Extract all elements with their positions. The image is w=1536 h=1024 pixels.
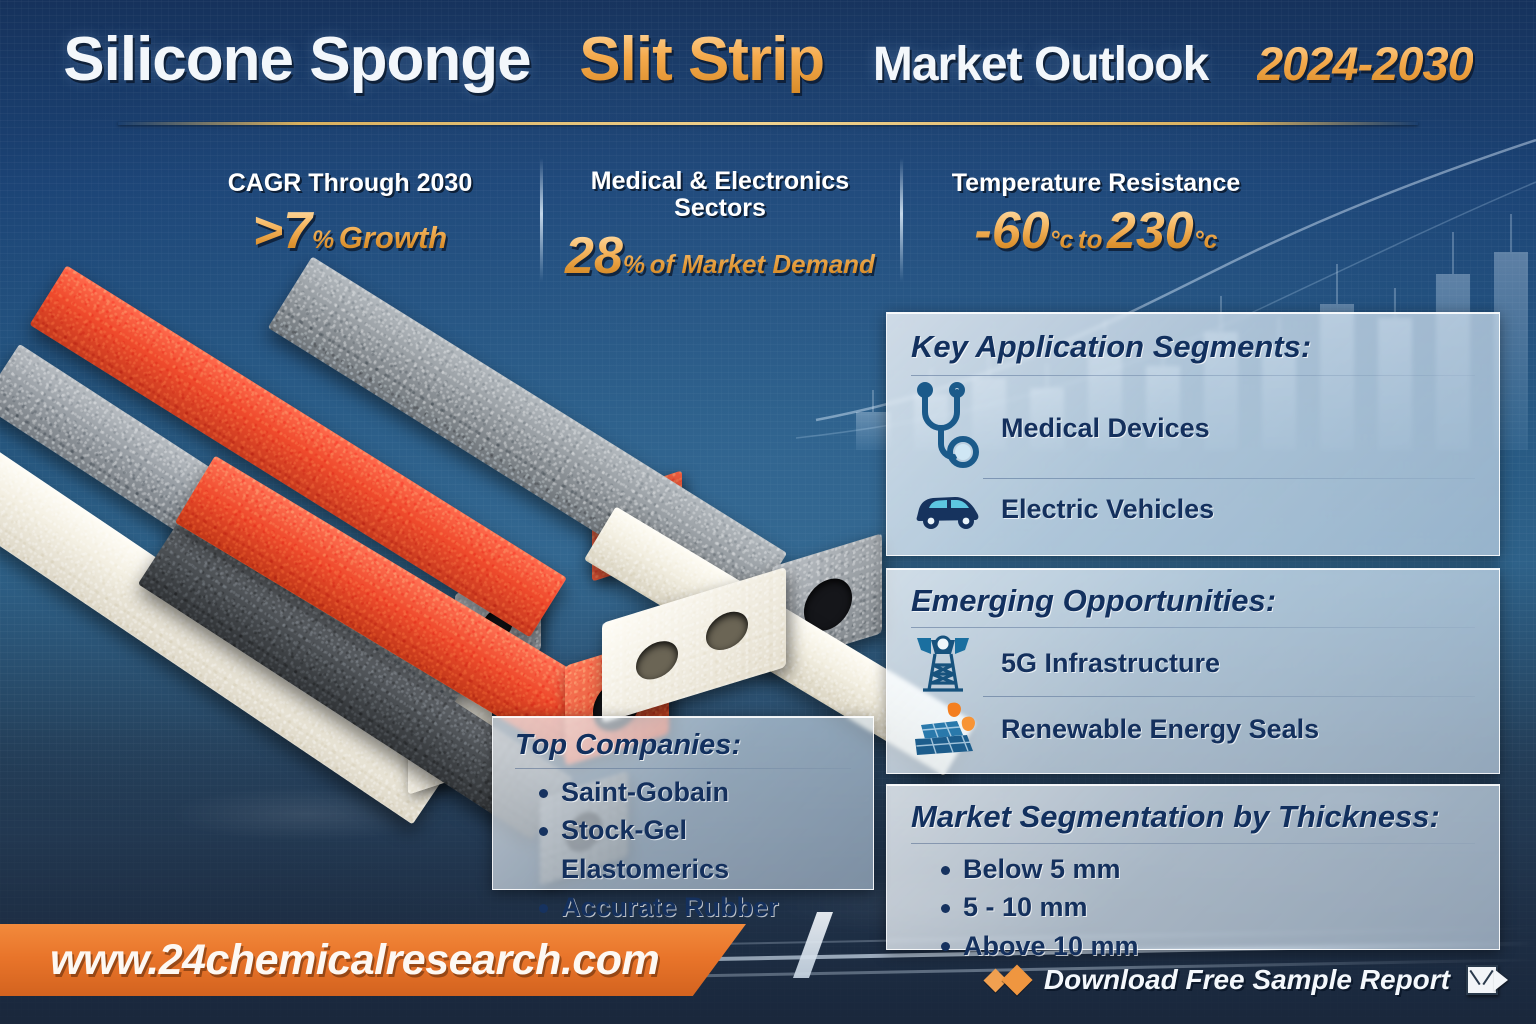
- stat-cagr-value: >7% Growth: [170, 201, 530, 261]
- stat-cagr-suffix: Growth: [339, 220, 448, 255]
- stat-cagr-label: CAGR Through 2030: [170, 170, 530, 197]
- key-application-item[interactable]: Electric Vehicles: [911, 487, 1475, 531]
- stats-row: CAGR Through 2030 >7% Growth Medical & E…: [0, 160, 1536, 285]
- website-url: www.24chemicalresearch.com: [50, 936, 659, 985]
- stat-temp-connector: to: [1078, 224, 1103, 254]
- stat-temp-unit-low: °c: [1050, 226, 1074, 254]
- stat-temperature-value: -60°c to 230°c: [916, 201, 1276, 261]
- key-application-label: Medical Devices: [1001, 413, 1210, 444]
- stat-temperature-label: Temperature Resistance: [916, 170, 1276, 197]
- stat-divider-1: [540, 158, 543, 282]
- stat-cagr: CAGR Through 2030 >7% Growth: [170, 170, 530, 261]
- stat-cagr-prefix: >: [253, 202, 283, 260]
- emerging-opportunity-item[interactable]: 5G Infrastructure: [911, 632, 1475, 694]
- panel-key-applications: Key Application Segments: Medical Device…: [886, 312, 1500, 556]
- diamond-marker-icon: [987, 969, 1028, 991]
- stat-sectors-label-line1: Medical & Electronics: [552, 168, 888, 195]
- stat-sectors-label-line2: Sectors: [552, 195, 888, 222]
- panel-market-segmentation: Market Segmentation by Thickness: Below …: [886, 784, 1500, 950]
- key-applications-title: Key Application Segments:: [911, 329, 1475, 365]
- stat-temperature: Temperature Resistance -60°c to 230°c: [916, 170, 1276, 261]
- page-title: Silicone Sponge Slit Strip Market Outloo…: [0, 24, 1536, 95]
- electric-car-icon: [911, 487, 983, 531]
- emerging-opportunity-label: 5G Infrastructure: [1001, 648, 1220, 679]
- stat-sectors-unit: %: [623, 251, 645, 279]
- cell-tower-icon: [911, 632, 983, 694]
- list-item: Above 10 mm: [935, 927, 1475, 965]
- market-segmentation-title: Market Segmentation by Thickness:: [911, 799, 1475, 835]
- cta-label: Download Free Sample Report: [1044, 964, 1450, 996]
- stat-cagr-number: 7: [283, 202, 312, 260]
- stat-temp-high: 230: [1107, 202, 1194, 260]
- title-part-2: Slit Strip: [579, 24, 824, 95]
- emerging-opportunities-title: Emerging Opportunities:: [911, 583, 1475, 619]
- stat-sectors-number: 28: [565, 227, 623, 285]
- market-segmentation-list: Below 5 mm 5 - 10 mm Above 10 mm: [911, 850, 1475, 965]
- stethoscope-icon: [911, 382, 983, 474]
- website-banner[interactable]: www.24chemicalresearch.com: [0, 924, 746, 996]
- download-sample-cta[interactable]: Download Free Sample Report: [987, 964, 1508, 996]
- emerging-opportunity-label: Renewable Energy Seals: [1001, 714, 1319, 745]
- infographic-poster: Silicone Sponge Slit Strip Market Outloo…: [0, 0, 1536, 1024]
- stat-sectors: Medical & Electronics Sectors 28% of Mar…: [552, 168, 888, 286]
- list-item: Saint-Gobain: [533, 773, 851, 811]
- panel-top-companies: Top Companies: Saint-Gobain Stock-Gel El…: [492, 716, 874, 890]
- key-application-label: Electric Vehicles: [1001, 494, 1214, 525]
- stat-divider-2: [900, 158, 903, 282]
- title-years: 2024-2030: [1257, 36, 1473, 91]
- list-item: 5 - 10 mm: [935, 888, 1475, 926]
- key-application-item[interactable]: Medical Devices: [911, 382, 1475, 474]
- title-part-3: Market Outlook: [873, 37, 1208, 92]
- header-divider: [118, 122, 1418, 125]
- stat-temp-unit-high: °c: [1194, 226, 1218, 254]
- title-part-1: Silicone Sponge: [63, 24, 530, 95]
- top-companies-title: Top Companies:: [515, 729, 851, 762]
- stat-sectors-value: 28% of Market Demand: [552, 226, 888, 286]
- list-item: Stock-Gel Elastomerics: [533, 811, 851, 888]
- emerging-opportunity-item[interactable]: Renewable Energy Seals: [911, 699, 1475, 759]
- stat-sectors-suffix: of Market Demand: [650, 249, 875, 279]
- list-item: Below 5 mm: [935, 850, 1475, 888]
- solar-panel-icon: [911, 699, 983, 759]
- email-video-icon[interactable]: [1466, 965, 1508, 995]
- stat-temp-low: -60: [974, 202, 1049, 260]
- stat-cagr-unit: %: [312, 226, 334, 254]
- panel-emerging-opportunities: Emerging Opportunities:: [886, 568, 1500, 774]
